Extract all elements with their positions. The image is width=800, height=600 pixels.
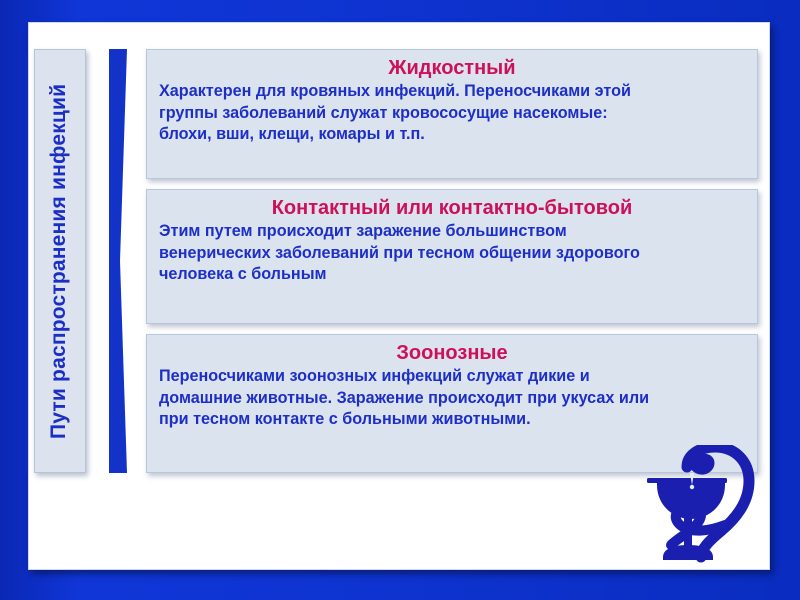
- card-kontaktnyy: Контактный или контактно-бытовой Этим пу…: [146, 189, 758, 324]
- slide-page: Пути распространения инфекций Жидкостный…: [28, 22, 770, 570]
- card-body: Переносчиками зоонозных инфекций служат …: [159, 366, 745, 431]
- card-body-line: блохи, вши, клещи, комары и т.п.: [159, 124, 745, 146]
- cards-column: Жидкостный Характерен для кровяных инфек…: [146, 49, 758, 473]
- card-body-line: группы заболеваний служат кровососущие н…: [159, 103, 745, 125]
- card-title: Контактный или контактно-бытовой: [159, 196, 745, 220]
- card-body: Характерен для кровяных инфекций. Перено…: [159, 81, 745, 146]
- side-caption-text: Пути распространения инфекций: [48, 83, 73, 438]
- card-body-line: Переносчиками зоонозных инфекций служат …: [159, 366, 745, 388]
- card-body-line: Этим путем происходит заражение большинс…: [159, 221, 745, 243]
- card-body-line: венерических заболеваний при тесном обще…: [159, 243, 745, 265]
- card-body-line: при тесном контакте с больными животными…: [159, 409, 745, 431]
- card-body-line: домашние животные. Заражение происходит …: [159, 388, 745, 410]
- card-title: Жидкостный: [159, 56, 745, 80]
- slide-canvas: Пути распространения инфекций Жидкостный…: [0, 0, 800, 600]
- bowl-of-hygieia-icon: [639, 445, 755, 563]
- card-zhidkostnyy: Жидкостный Характерен для кровяных инфек…: [146, 49, 758, 179]
- card-body: Этим путем происходит заражение большинс…: [159, 221, 745, 286]
- card-body-line: человека с больным: [159, 264, 745, 286]
- tapered-blue-band: [107, 49, 137, 473]
- card-body-line: Характерен для кровяных инфекций. Перено…: [159, 81, 745, 103]
- card-title: Зоонозные: [159, 341, 745, 365]
- side-caption-box: Пути распространения инфекций: [34, 49, 86, 473]
